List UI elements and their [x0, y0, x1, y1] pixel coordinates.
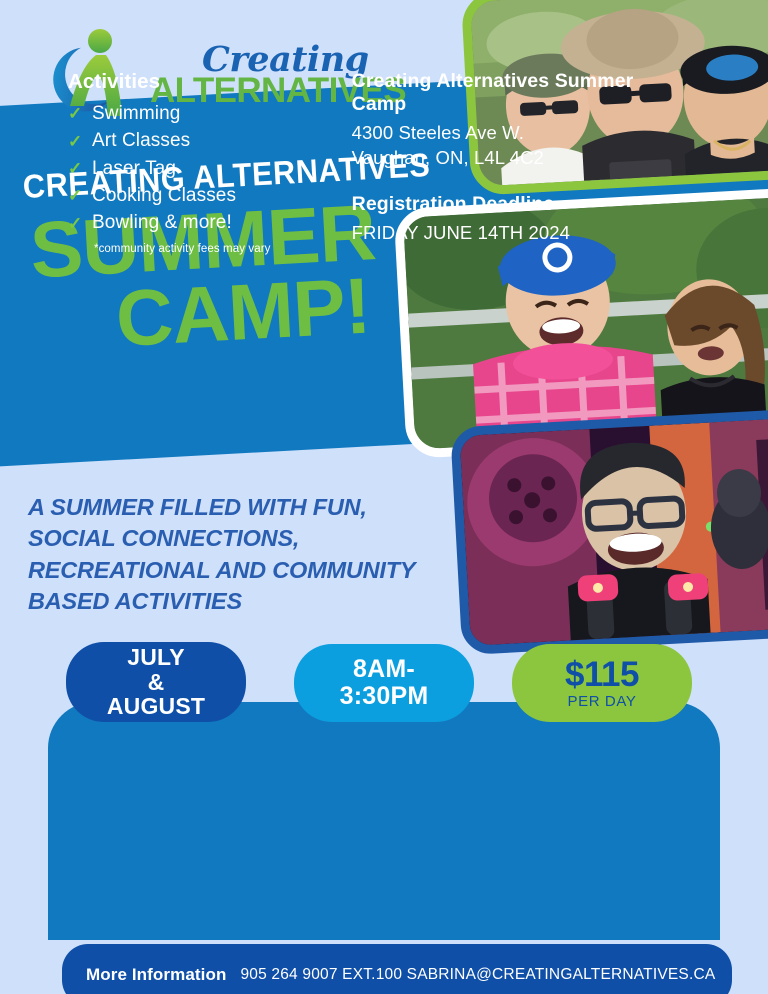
activity-label: Cooking Classes — [92, 182, 236, 209]
activities-title: Activities — [68, 70, 308, 94]
info-card-panel — [48, 702, 720, 940]
details-spacer — [352, 171, 668, 193]
check-icon: ✓ — [68, 187, 83, 204]
activity-label: Laser Tag — [92, 155, 176, 182]
list-item: ✓ Cooking Classes — [68, 182, 308, 209]
camp-name: Creating Alternatives Summer Camp — [352, 70, 668, 116]
activity-label: Swimming — [92, 100, 180, 127]
list-item: ✓ Art Classes — [68, 127, 308, 154]
activities-column: Activities ✓ Swimming ✓ Art Classes ✓ La… — [68, 70, 308, 255]
badge-price: $115 PER DAY — [512, 644, 692, 722]
badge-dates-line-3: AUGUST — [107, 694, 205, 719]
photo-laser-tag-participant — [450, 409, 768, 655]
registration-deadline-title: Registration Deadline — [352, 193, 668, 216]
info-card-content: Activities ✓ Swimming ✓ Art Classes ✓ La… — [68, 70, 668, 255]
check-icon: ✓ — [68, 133, 83, 150]
badge-dates-line-1: JULY — [127, 645, 184, 670]
subhead-line-2: SOCIAL CONNECTIONS, — [28, 523, 415, 554]
badges-row: JULY & AUGUST 8AM- 3:30PM $115 PER DAY — [0, 636, 768, 728]
address-line-1: 4300 Steeles Ave W. — [352, 121, 668, 146]
subhead-line-4: BASED ACTIVITIES — [28, 586, 415, 617]
badge-price-amount: $115 — [565, 657, 639, 692]
list-item: ✓ Swimming — [68, 100, 308, 127]
activity-label: Bowling & more! — [92, 209, 232, 236]
badge-time: 8AM- 3:30PM — [294, 644, 474, 722]
details-column: Creating Alternatives Summer Camp 4300 S… — [352, 70, 668, 255]
check-icon: ✓ — [68, 215, 83, 232]
contact-details[interactable]: 905 264 9007 EXT.100 SABRINA@CREATINGALT… — [240, 966, 715, 984]
subhead-block: A SUMMER FILLED WITH FUN, SOCIAL CONNECT… — [28, 492, 415, 617]
badge-dates: JULY & AUGUST — [66, 642, 246, 722]
activity-label: Art Classes — [92, 127, 190, 154]
badge-time-line-1: 8AM- — [353, 656, 415, 684]
activities-footnote: *community activity fees may vary — [94, 243, 308, 255]
subhead-line-3: RECREATIONAL AND COMMUNITY — [28, 555, 415, 586]
subhead-line-1: A SUMMER FILLED WITH FUN, — [28, 492, 415, 523]
check-icon: ✓ — [68, 105, 83, 122]
check-icon: ✓ — [68, 160, 83, 177]
badge-time-line-2: 3:30PM — [340, 683, 429, 711]
address-line-2: Vaughan, ON, L4L 4C2 — [352, 146, 668, 171]
activities-list: ✓ Swimming ✓ Art Classes ✓ Laser Tag ✓ C… — [68, 100, 308, 237]
list-item: ✓ Bowling & more! — [68, 209, 308, 236]
summer-camp-poster: Creating ALTERNATIVES — [0, 0, 768, 994]
list-item: ✓ Laser Tag — [68, 155, 308, 182]
registration-deadline-date: FRIDAY JUNE 14TH 2024 — [352, 221, 668, 246]
more-information-label: More Information — [86, 965, 226, 985]
more-information-bar: More Information 905 264 9007 EXT.100 SA… — [62, 944, 732, 994]
badge-price-per: PER DAY — [568, 693, 637, 710]
badge-dates-line-2: & — [148, 670, 165, 695]
